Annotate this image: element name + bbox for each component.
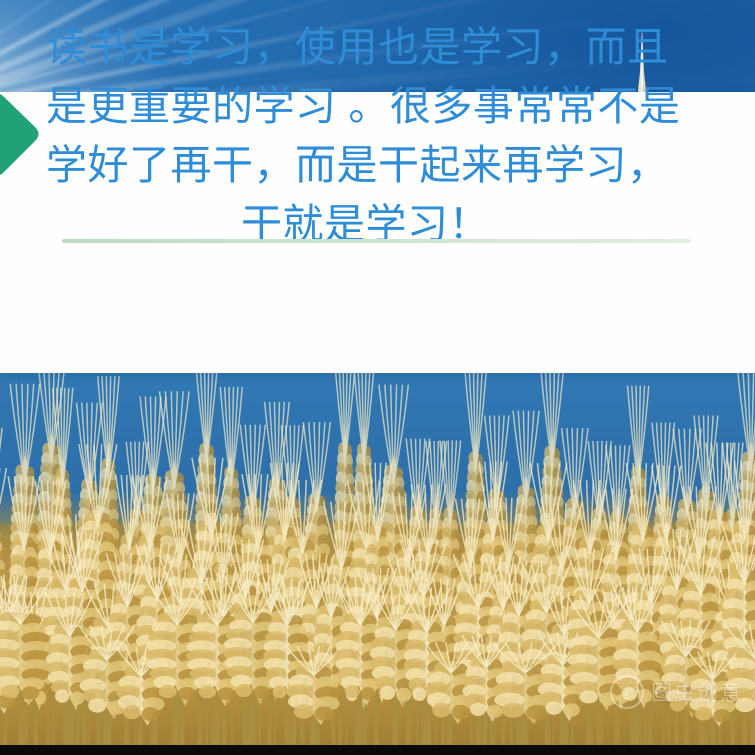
watermark: ◎ 图虫创意	[610, 675, 743, 709]
quote-line-2: 是更重要的学习 。很多事常常不是	[0, 77, 755, 136]
watermark-label: 图虫创意	[651, 677, 743, 707]
quote-line-4: 干就是学习！	[0, 195, 755, 254]
quote-line-1: 读书是学习，使用也是学习，而且	[0, 18, 755, 77]
camera-circle-icon: ◎	[610, 675, 644, 709]
quote-underline-rule	[62, 239, 690, 243]
bottom-letterbox-bar	[0, 745, 755, 755]
poster-stage: 读书是学习，使用也是学习，而且 是更重要的学习 。很多事常常不是 学好了再干，而…	[0, 0, 755, 755]
quote-line-3: 学好了再干，而是干起来再学习，	[0, 136, 755, 195]
